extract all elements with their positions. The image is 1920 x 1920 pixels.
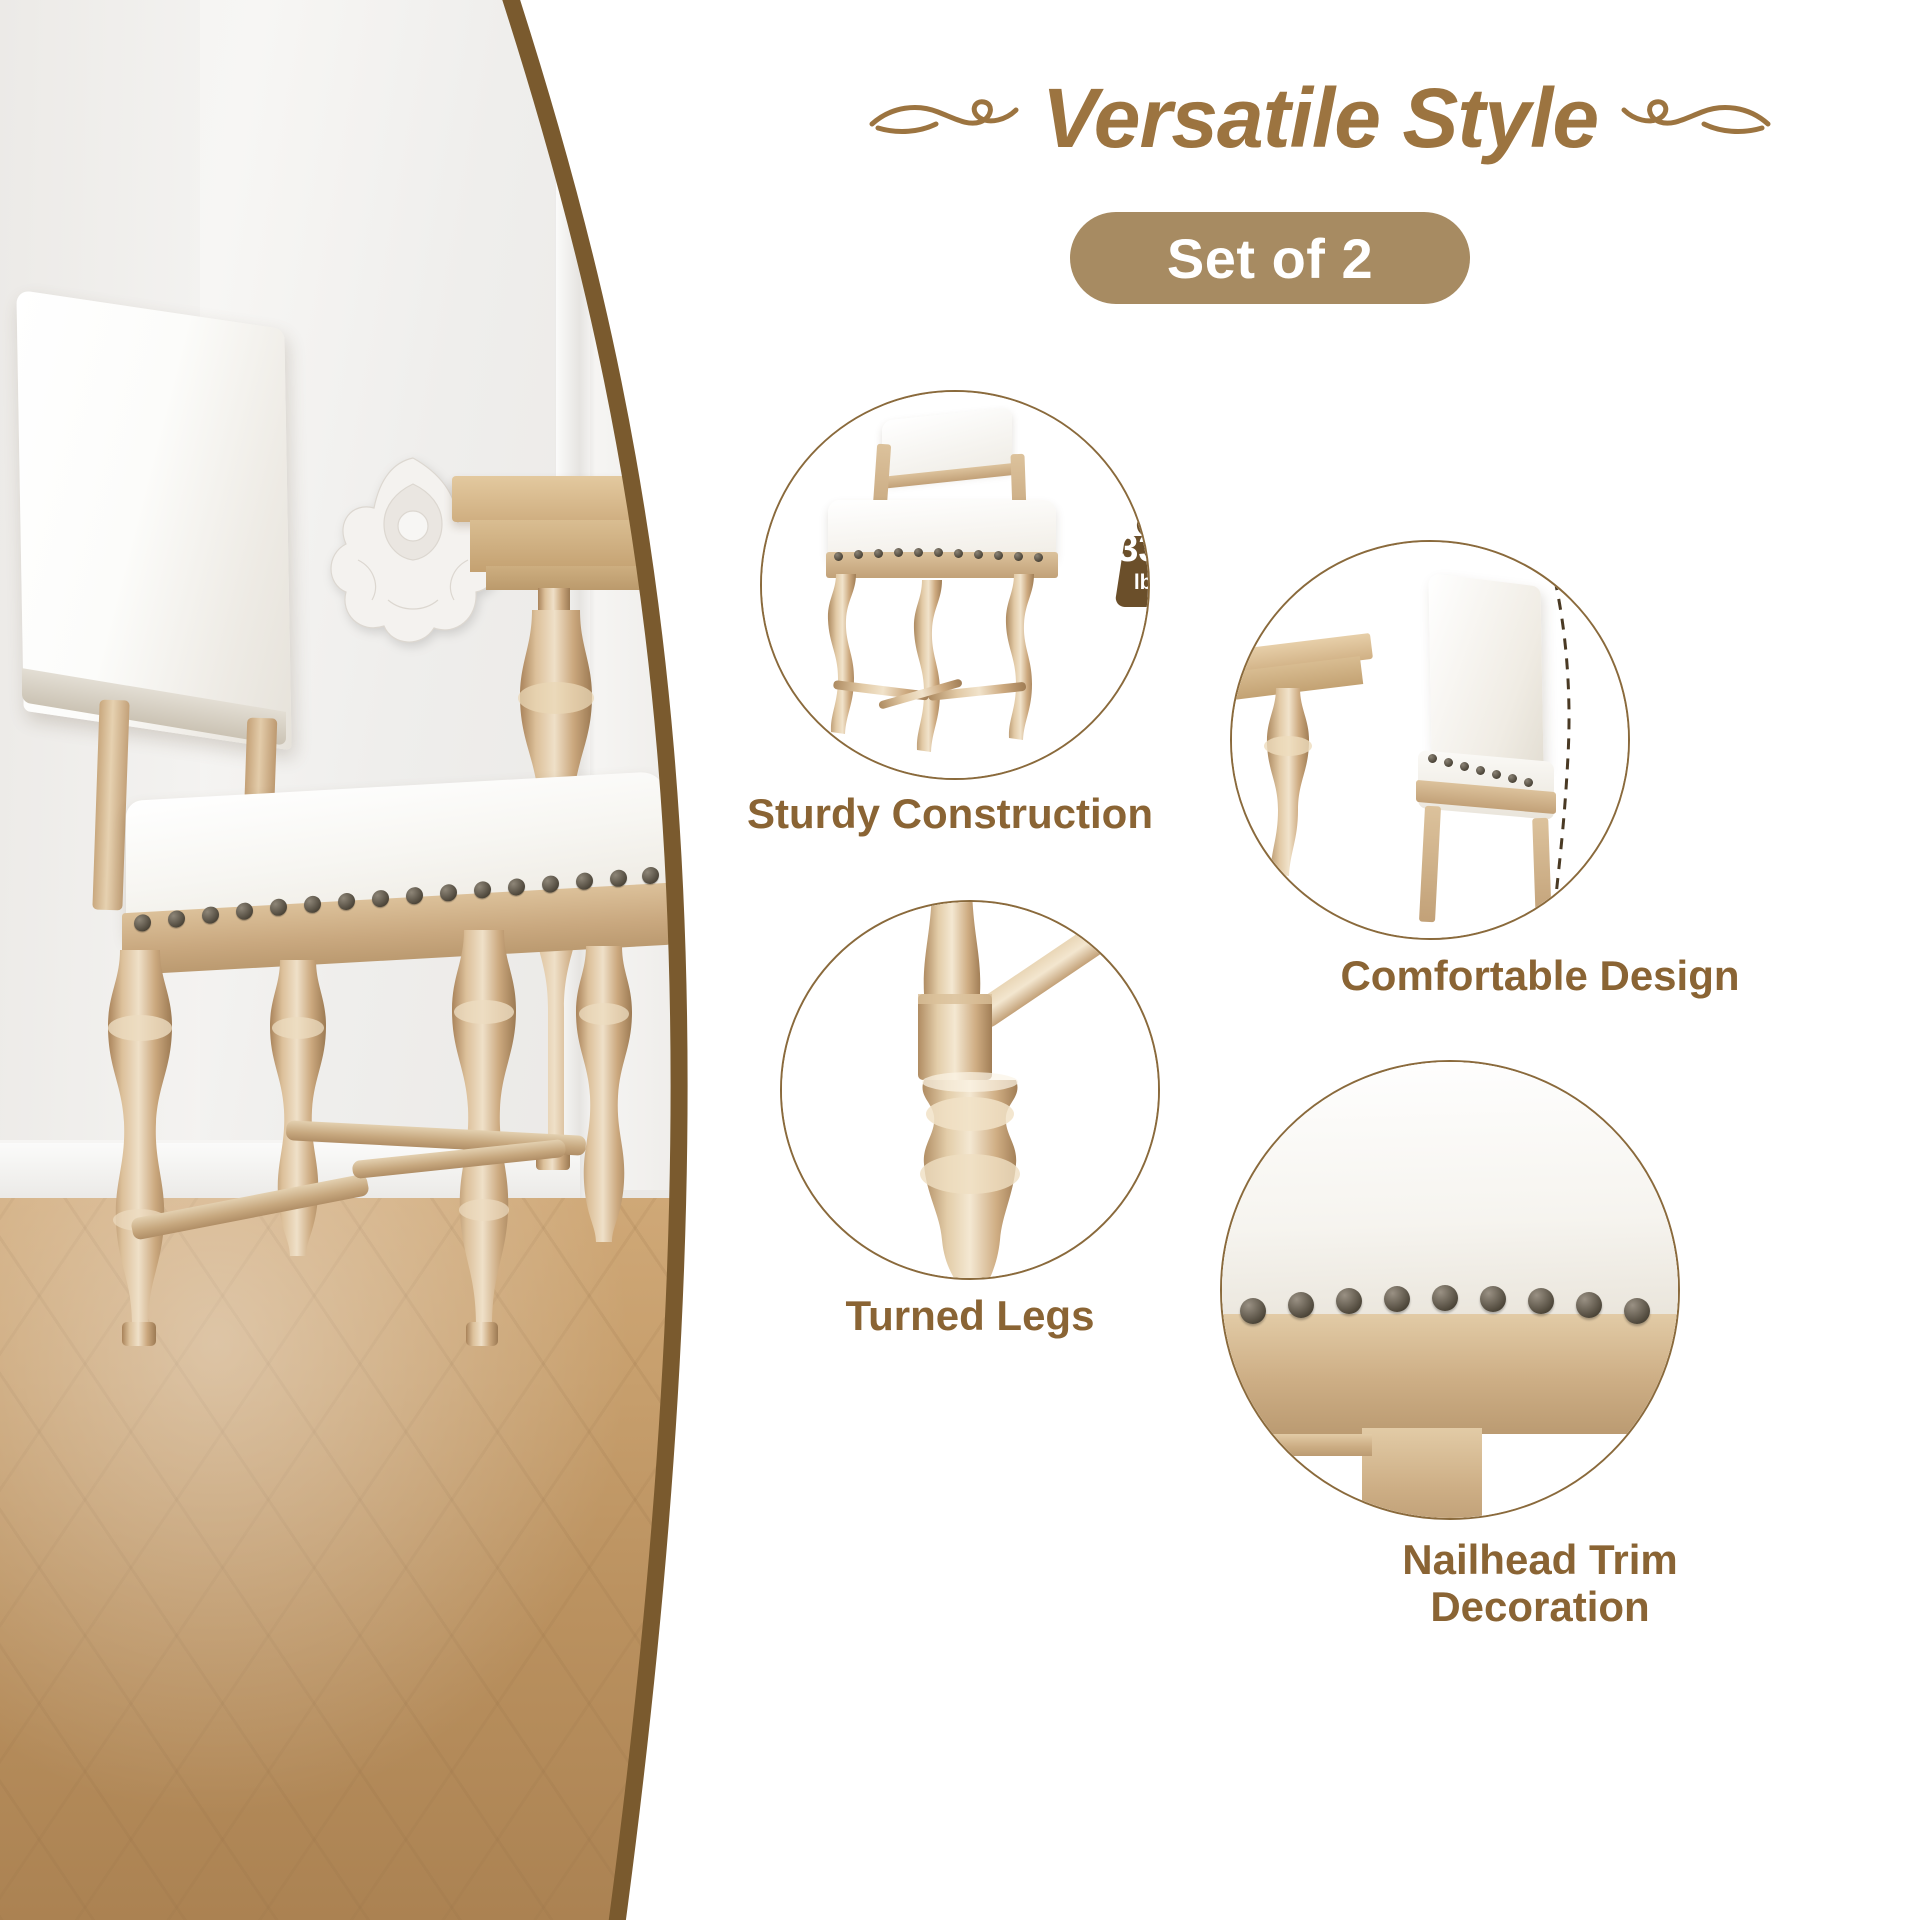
weight-capacity-value: 330 [1094,530,1150,568]
mini-chair-legs-and-stretchers [818,574,1068,774]
page-title: Versatile Style [1042,76,1598,160]
chair-leg-rear-left [258,960,330,1260]
product-infographic: Versatile Style Set of 2 [0,0,1920,1920]
turned-leg-closeup [782,902,1160,1280]
feature-sturdy-construction-label: Sturdy Construction [740,790,1160,837]
trim-upholstery-fabric [1220,1060,1680,1322]
trim-wood-rail [1220,1314,1680,1434]
feature-comfortable-design-label: Comfortable Design [1170,952,1910,999]
feature-nailhead-trim-label-line1: Nailhead Trim [1402,1536,1677,1583]
dashed-silhouette-outline [1232,542,1630,940]
feature-turned-legs-label: Turned Legs [760,1292,1180,1339]
feature-turned-legs-image [780,900,1160,1280]
set-of-2-badge-label: Set of 2 [1167,226,1373,291]
feature-nailhead-trim-label: Nailhead TrimDecoration [1160,1536,1920,1630]
ornamental-flourish-left-icon [864,88,1024,148]
feature-nailhead-trim-label-line2: Decoration [1430,1583,1649,1630]
chair-leg-front-left [92,950,182,1350]
trim-wood-stretcher [1220,1434,1372,1456]
feature-nailhead-trim: Nailhead TrimDecoration [1160,1060,1920,1860]
set-of-2-badge: Set of 2 [1070,212,1470,304]
feature-sturdy-construction-image: 330 lbs [760,390,1150,780]
feature-sturdy-construction: 330 lbs Sturdy Construction [740,390,1160,950]
trim-wood-leg [1362,1428,1482,1520]
right-content-panel: Versatile Style Set of 2 [720,0,1920,1920]
title-row: Versatile Style [720,55,1920,180]
ornamental-flourish-right-icon [1616,88,1776,148]
feature-turned-legs: Turned Legs [760,900,1180,1460]
feature-comfortable-design-image [1230,540,1630,940]
feature-nailhead-trim-image [1220,1060,1680,1520]
weight-capacity-unit: lbs [1094,572,1150,593]
